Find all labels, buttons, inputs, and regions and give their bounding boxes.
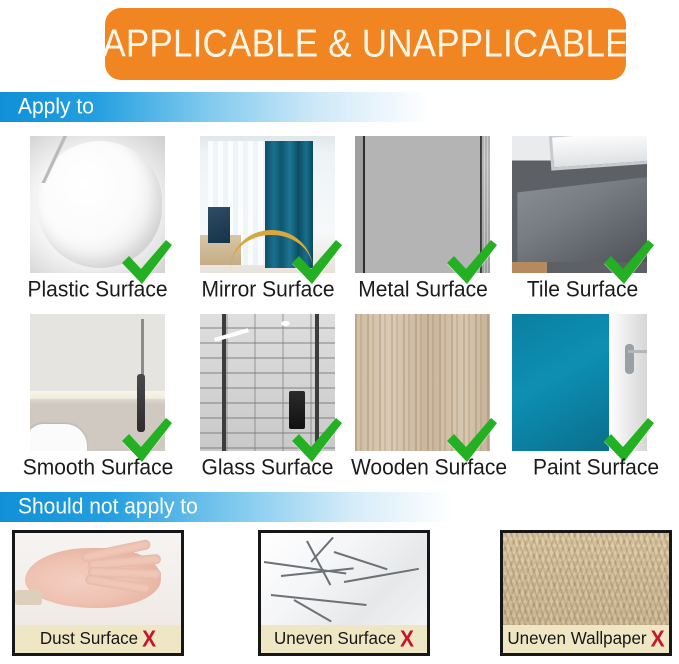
surface-tile-paint[interactable]	[512, 314, 647, 451]
paint-surface-image	[512, 314, 647, 451]
section-label-should-not-apply-to: Should not apply to	[0, 494, 198, 519]
surface-tile-tile[interactable]	[512, 136, 647, 273]
dusty-hand-image	[15, 533, 181, 625]
surface-tile-wooden[interactable]	[355, 314, 490, 451]
title-banner: APPLICABLE & UNAPPLICABLE	[105, 8, 626, 80]
red-x-icon: X	[142, 627, 156, 650]
surface-label-metal: Metal Surface	[338, 277, 508, 302]
surface-tile-plastic[interactable]	[30, 136, 165, 273]
surface-label-glass: Glass Surface	[190, 455, 345, 480]
avoid-card-label-strip: Uneven Wallpaper X	[503, 625, 669, 653]
page-title: APPLICABLE & UNAPPLICABLE	[102, 22, 628, 67]
cracked-wall-image	[261, 533, 427, 625]
section-label-apply-to: Apply to	[0, 94, 94, 119]
avoid-card-label-strip: Uneven Surface X	[261, 625, 427, 653]
surface-tile-mirror[interactable]	[200, 136, 335, 273]
red-x-icon: X	[400, 627, 414, 650]
avoid-card-uneven-wallpaper[interactable]: Uneven Wallpaper X	[500, 530, 672, 656]
surface-tile-smooth[interactable]	[30, 314, 165, 451]
surface-label-smooth: Smooth Surface	[8, 455, 188, 480]
surface-label-mirror: Mirror Surface	[182, 277, 354, 302]
section-header-apply-to: Apply to	[0, 92, 430, 122]
surface-label-plastic: Plastic Surface	[10, 277, 185, 302]
surface-label-tile: Tile Surface	[510, 277, 655, 302]
avoid-card-dust-surface[interactable]: Dust Surface X	[12, 530, 184, 656]
avoid-card-uneven-surface[interactable]: Uneven Surface X	[258, 530, 430, 656]
surface-tile-glass[interactable]	[200, 314, 335, 451]
avoid-label-dust-surface: Dust Surface	[40, 629, 138, 650]
textured-wallpaper-image	[503, 533, 669, 625]
glass-surface-image	[200, 314, 335, 451]
tile-surface-image	[512, 136, 647, 273]
metal-surface-image	[355, 136, 490, 273]
surface-label-wooden: Wooden Surface	[336, 455, 522, 480]
red-x-icon: X	[651, 627, 665, 650]
wooden-surface-image	[355, 314, 490, 451]
section-header-should-not-apply-to: Should not apply to	[0, 492, 452, 522]
mirror-surface-image	[200, 136, 335, 273]
avoid-label-uneven-wallpaper: Uneven Wallpaper	[507, 629, 646, 650]
plastic-surface-image	[30, 136, 165, 273]
avoid-card-label-strip: Dust Surface X	[15, 625, 181, 653]
surface-label-paint: Paint Surface	[518, 455, 674, 480]
smooth-surface-image	[30, 314, 165, 451]
surface-tile-metal[interactable]	[355, 136, 490, 273]
avoid-label-uneven-surface: Uneven Surface	[274, 629, 396, 650]
